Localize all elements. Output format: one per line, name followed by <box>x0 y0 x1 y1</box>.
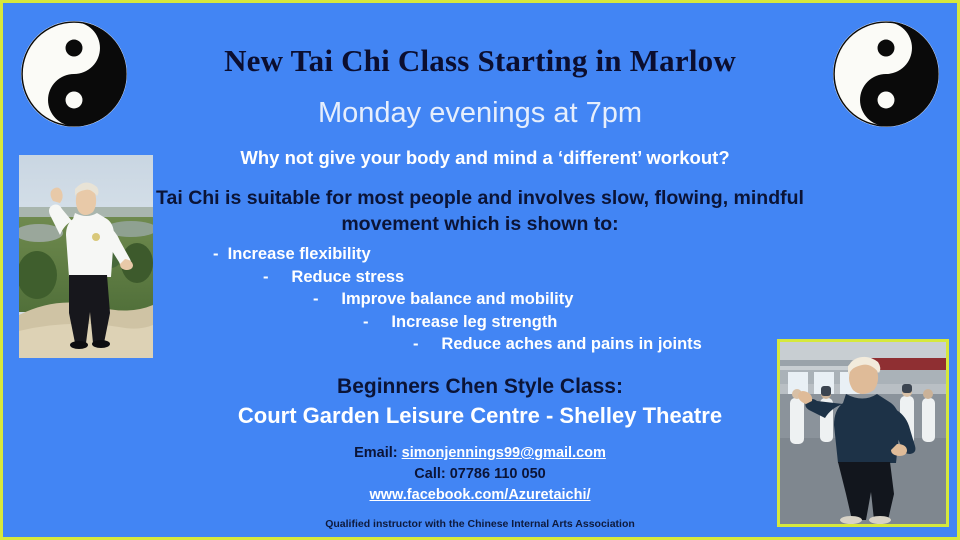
phone-label: Call: <box>414 466 445 482</box>
yin-yang-glyph <box>21 21 127 127</box>
facebook-link[interactable]: www.facebook.com/Azuretaichi/ <box>369 487 590 503</box>
benefits-list: - Increase flexibility - Reduce stress -… <box>163 243 857 356</box>
list-item: - Improve balance and mobility <box>313 288 857 311</box>
phone-line: Call: 07786 110 050 <box>183 464 777 485</box>
venue-text: Court Garden Leisure Centre - Shelley Th… <box>103 402 857 430</box>
instructor-class-hall-photo <box>777 339 949 527</box>
yin-yang-icon-left <box>21 21 127 127</box>
email-label: Email: <box>354 445 398 461</box>
yin-yang-glyph <box>833 21 939 127</box>
list-item: - Increase flexibility <box>213 243 857 266</box>
tai-chi-poster: New Tai Chi Class Starting in Marlow Mon… <box>0 0 960 540</box>
hall-photo-art <box>780 342 946 524</box>
outdoor-photo-art <box>19 155 153 358</box>
page-title: New Tai Chi Class Starting in Marlow <box>133 41 827 81</box>
email-line: Email: simonjennings99@gmail.com <box>183 443 777 464</box>
tagline-text: Why not give your body and mind a ‘diffe… <box>123 145 847 171</box>
contact-block: Email: simonjennings99@gmail.com Call: 0… <box>183 443 777 506</box>
list-item: - Increase leg strength <box>363 311 857 334</box>
email-link[interactable]: simonjennings99@gmail.com <box>402 445 606 461</box>
facebook-line: www.facebook.com/Azuretaichi/ <box>183 485 777 506</box>
intro-paragraph: Tai Chi is suitable for most people and … <box>153 185 807 237</box>
yin-yang-icon-right <box>833 21 939 127</box>
list-item: - Reduce stress <box>263 266 857 289</box>
qualification-note: Qualified instructor with the Chinese In… <box>163 517 797 531</box>
phone-number: 07786 110 050 <box>450 466 546 482</box>
schedule-subtitle: Monday evenings at 7pm <box>133 93 827 133</box>
instructor-outdoors-photo <box>19 155 153 358</box>
list-item: - Reduce aches and pains in joints <box>413 333 857 356</box>
class-style-heading: Beginners Chen Style Class: <box>133 373 827 401</box>
